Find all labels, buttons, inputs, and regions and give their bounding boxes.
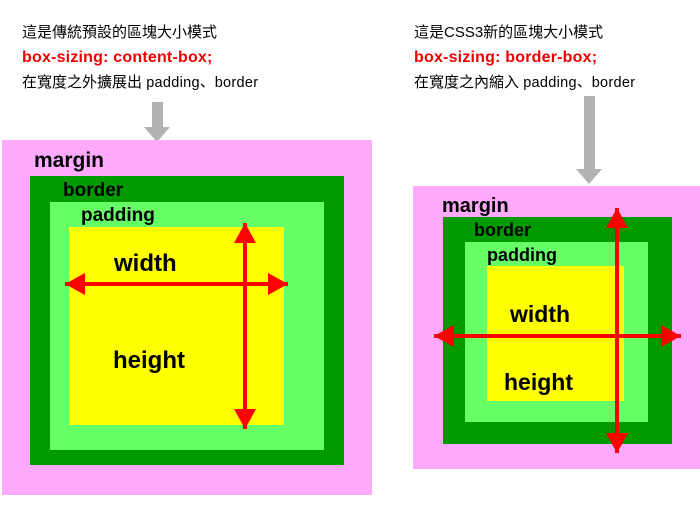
down-arrow-icon [144, 102, 170, 142]
margin-region: margin border padding width [2, 140, 372, 495]
arrow-tip-up [606, 208, 628, 228]
arrow-tip-down [234, 409, 256, 429]
border-box-caption: 這是CSS3新的區塊大小模式 box-sizing: border-box; 在… [414, 20, 635, 96]
content-region: width height [69, 227, 284, 425]
height-measure-arrow [234, 223, 256, 429]
arrow-tip-left [65, 273, 85, 295]
margin-region: margin border padding width [413, 186, 700, 469]
caption-detail-prefix: 在寬度之內縮入 [414, 74, 519, 91]
caption-line-detail: 在寬度之內縮入 padding、border [414, 70, 635, 96]
caption-line-code: box-sizing: border-box; [414, 45, 635, 70]
border-box-diagram: margin border padding width [413, 186, 700, 469]
arrow-tip-down [606, 433, 628, 453]
arrow-tip-up [234, 223, 256, 243]
padding-region: padding width [50, 202, 324, 450]
border-label: border [474, 221, 531, 239]
arrow-shaft [152, 102, 163, 127]
down-arrow-icon [576, 96, 602, 184]
arrow-tip-right [268, 273, 288, 295]
content-box-panel: 這是傳統預設的區塊大小模式 box-sizing: content-box; 在… [0, 0, 400, 514]
caption-line-code: box-sizing: content-box; [22, 45, 258, 70]
padding-label: padding [81, 206, 155, 225]
content-box-diagram: margin border padding width [2, 140, 372, 495]
caption-detail-prefix: 在寬度之外擴展出 [22, 74, 142, 91]
arrow-shaft [584, 96, 595, 169]
caption-line-detail: 在寬度之外擴展出 padding、border [22, 70, 258, 96]
caption-line-intro: 這是CSS3新的區塊大小模式 [414, 20, 635, 45]
padding-label: padding [487, 246, 557, 264]
height-measure-arrow [606, 208, 628, 453]
width-label: width [510, 303, 570, 326]
margin-label: margin [442, 196, 509, 216]
measure-line [615, 208, 619, 453]
border-box-panel: 這是CSS3新的區塊大小模式 box-sizing: border-box; 在… [400, 0, 700, 514]
content-box-caption: 這是傳統預設的區塊大小模式 box-sizing: content-box; 在… [22, 20, 258, 96]
measure-line [434, 334, 681, 338]
arrow-head [576, 169, 602, 184]
width-label: width [114, 252, 177, 276]
arrow-tip-right [661, 325, 681, 347]
height-label: height [113, 349, 185, 373]
caption-detail-latin: padding、border [523, 75, 635, 91]
width-measure-arrow [434, 325, 681, 347]
height-label: height [504, 371, 573, 394]
caption-detail-latin: padding、border [146, 75, 258, 91]
border-label: border [63, 181, 123, 200]
margin-label: margin [34, 150, 104, 171]
border-region: border padding width [30, 176, 344, 465]
caption-line-intro: 這是傳統預設的區塊大小模式 [22, 20, 258, 45]
arrow-tip-left [434, 325, 454, 347]
measure-line [243, 223, 247, 429]
